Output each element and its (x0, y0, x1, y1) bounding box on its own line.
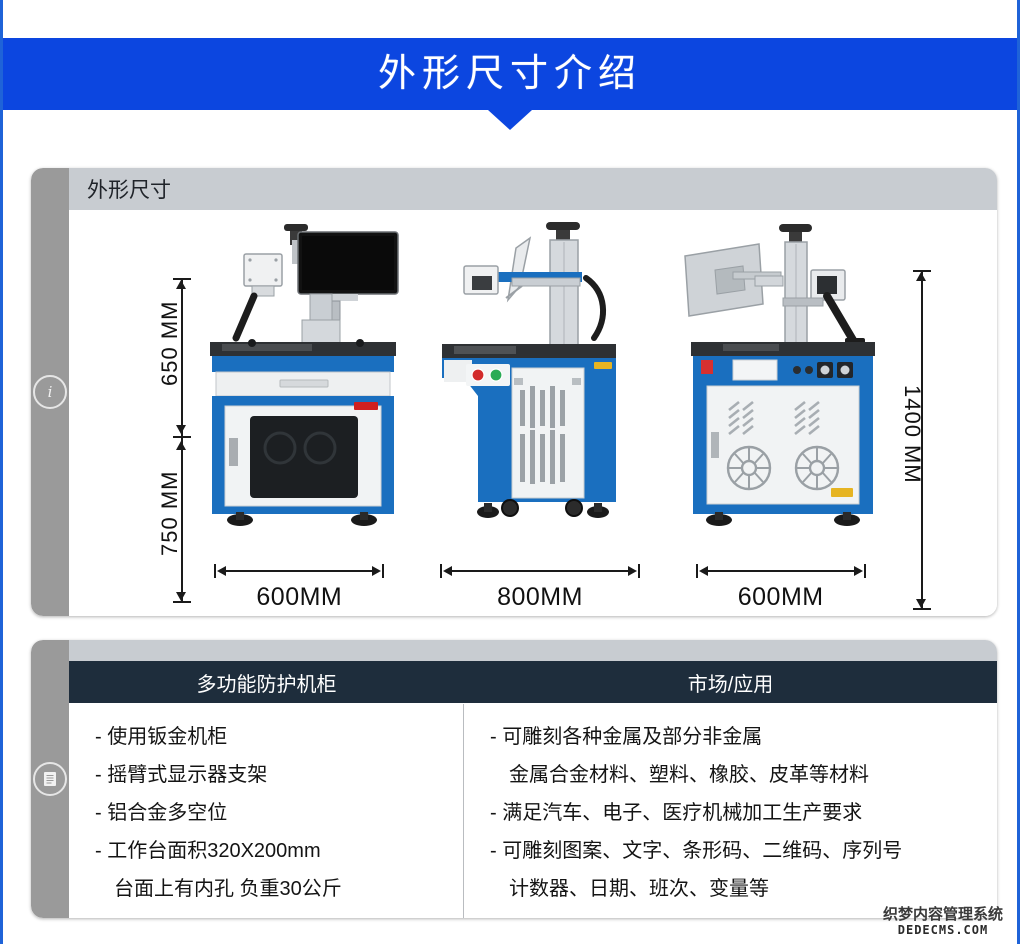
dimension-panel-body: 外形尺寸 650 MM 750 MM (69, 168, 997, 616)
dimension-cap-right (864, 564, 866, 578)
spec-panel-strip (69, 640, 997, 661)
arrow-right-icon (372, 566, 381, 576)
banner-notch-triangle (488, 110, 532, 130)
spec-panel: 多功能防护机柜 市场/应用 - 使用钣金机柜 - 摇臂式显示器支架 - 铝合金多… (31, 640, 997, 918)
arrow-right-icon (854, 566, 863, 576)
width-dimension-line (696, 563, 866, 579)
spec-list-item: - 满足汽车、电子、医疗机械加工生产要求 (490, 794, 997, 832)
dimension-panel-title: 外形尺寸 (87, 174, 171, 204)
width-dimension-line (214, 563, 384, 579)
spec-header-market: 市场/应用 (464, 661, 997, 703)
arrow-right-icon (628, 566, 637, 576)
dimension-cap-bottom (913, 608, 931, 610)
dimension-cap-right (638, 564, 640, 578)
vertical-dimension-right: 1400 MM (907, 270, 963, 610)
page-root: 外形尺寸介绍 i 外形尺寸 (0, 0, 1020, 944)
dimension-cap-left (696, 564, 698, 578)
watermark-cn: 织梦内容管理系统 (883, 907, 1003, 922)
spec-list-item: - 使用钣金机柜 (95, 718, 463, 756)
spec-list-item: - 可雕刻图案、文字、条形码、二维码、序列号 (490, 832, 997, 870)
spec-cell-cabinet: - 使用钣金机柜 - 摇臂式显示器支架 - 铝合金多空位 - 工作台面积320X… (69, 704, 464, 918)
page-title: 外形尺寸介绍 (378, 55, 642, 93)
header-banner: 外形尺寸介绍 (3, 38, 1017, 110)
dimension-line-horizontal (448, 570, 632, 572)
info-icon: i (33, 375, 67, 409)
machine-image-rear (671, 220, 891, 557)
machine-image-front (192, 220, 407, 557)
document-icon (33, 762, 67, 796)
spec-list-item: - 工作台面积320X200mm (95, 832, 463, 870)
dimension-stage: 650 MM 750 MM 1400 MM (69, 210, 997, 616)
banner-bar: 外形尺寸介绍 (3, 38, 1017, 110)
machine-column: 600MM (179, 220, 420, 612)
spec-list-item: - 可雕刻各种金属及部分非金属 (490, 718, 997, 756)
watermark-en: DEDECMS.COM (883, 924, 1003, 936)
spec-table-body-row: - 使用钣金机柜 - 摇臂式显示器支架 - 铝合金多空位 - 工作台面积320X… (69, 703, 997, 918)
machine-column: 800MM (420, 220, 661, 612)
dimension-cap-left (440, 564, 442, 578)
spec-table-header-row: 多功能防护机柜 市场/应用 (69, 661, 997, 703)
dimension-cap-left (214, 564, 216, 578)
dimension-line-horizontal (222, 570, 376, 572)
dimension-panel-header: 外形尺寸 (69, 168, 997, 210)
dimension-line-horizontal (704, 570, 858, 572)
dimension-cap-right (382, 564, 384, 578)
spec-cell-market: - 可雕刻各种金属及部分非金属 金属合金材料、塑料、橡胶、皮革等材料 - 满足汽… (464, 704, 997, 918)
spec-list-item: 金属合金材料、塑料、橡胶、皮革等材料 (490, 756, 997, 794)
spec-list-item: - 铝合金多空位 (95, 794, 463, 832)
arrow-left-icon (217, 566, 226, 576)
machine-illustration-row: 600MM (179, 224, 901, 612)
arrow-left-icon (699, 566, 708, 576)
spec-list-item: 台面上有内孔 负重30公斤 (95, 870, 463, 908)
arrow-up-icon (916, 272, 926, 281)
machine-image-side (434, 220, 646, 557)
machine-width-label: 600MM (256, 583, 342, 612)
spec-panel-body: 多功能防护机柜 市场/应用 - 使用钣金机柜 - 摇臂式显示器支架 - 铝合金多… (69, 640, 997, 918)
spec-list-item: 计数器、日期、班次、变量等 (490, 870, 997, 908)
svg-text:i: i (48, 383, 53, 401)
dimension-label-1400: 1400 MM (899, 385, 925, 495)
spec-header-cabinet: 多功能防护机柜 (69, 661, 464, 703)
machine-column: 600MM (660, 220, 901, 612)
spec-list-item: - 摇臂式显示器支架 (95, 756, 463, 794)
machine-width-label: 600MM (738, 583, 824, 612)
arrow-down-icon (916, 599, 926, 608)
watermark: 织梦内容管理系统 DEDECMS.COM (883, 907, 1003, 936)
spec-table: 多功能防护机柜 市场/应用 - 使用钣金机柜 - 摇臂式显示器支架 - 铝合金多… (69, 661, 997, 918)
machine-width-label: 800MM (497, 583, 583, 612)
arrow-left-icon (443, 566, 452, 576)
dimension-panel: i 外形尺寸 650 MM 7 (31, 168, 997, 616)
spec-panel-tab[interactable] (31, 640, 69, 918)
width-dimension-line (440, 563, 640, 579)
dimension-panel-tab[interactable]: i (31, 168, 69, 616)
